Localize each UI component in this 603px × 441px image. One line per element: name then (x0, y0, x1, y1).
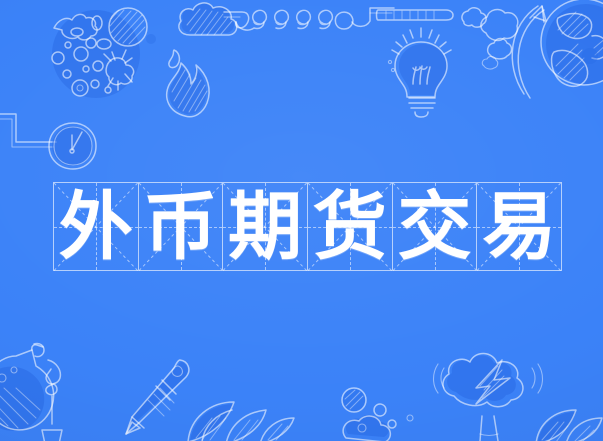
title-character: 外 (59, 190, 133, 264)
title-character: 货 (313, 190, 387, 264)
lightbulb-doodle (390, 28, 458, 118)
title-character: 期 (228, 190, 302, 264)
clock-gauge-doodle (44, 118, 104, 176)
grass-leaves-doodle (532, 396, 603, 441)
globe-earth-doodle (548, 0, 603, 102)
grid-cell: 期 (222, 182, 307, 271)
grid-cell: 交 (392, 182, 477, 271)
grid-cell: 货 (307, 182, 392, 271)
grid-cell: 外 (53, 182, 138, 271)
title-character: 交 (398, 190, 472, 264)
bubble-cluster-doodle (332, 388, 442, 441)
leaf-sprout-doodle (186, 392, 296, 441)
flame-doodle (160, 44, 222, 118)
grid-cell: 易 (476, 182, 562, 271)
flask-beaker-doodle (0, 340, 92, 441)
character-practice-grid: 外 币 期 货 (53, 182, 562, 271)
title-character: 易 (482, 190, 556, 264)
tree-lightning-doodle (432, 340, 546, 441)
banner-canvas: 外 币 期 货 (0, 0, 603, 441)
grid-cell: 币 (138, 182, 223, 271)
title-character: 币 (144, 190, 218, 264)
petri-dish-microbes-doodle (34, 2, 164, 102)
ruler-bar-doodle (376, 6, 456, 26)
